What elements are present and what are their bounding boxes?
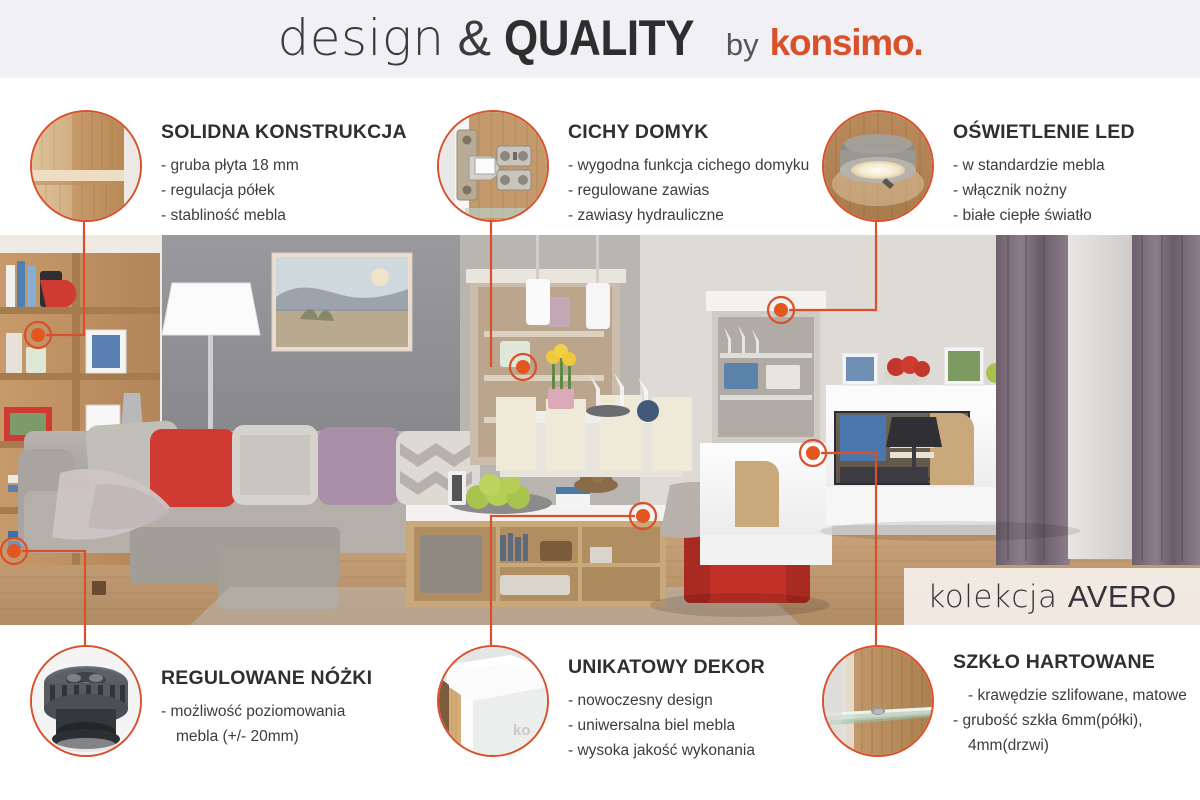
header-word-design: design (277, 13, 444, 63)
feature-title: REGULOWANE NÓŻKI (161, 667, 372, 690)
header-word-quality: QUALITY (504, 13, 694, 63)
collection-badge-label: kolekcja AVERO (927, 579, 1176, 615)
feature-text-block: UNIKATOWY DEKOR - nowoczesny design - un… (568, 645, 765, 763)
brand-logo-konsimo: konsimo. (770, 24, 923, 61)
feature-text-block: SZKŁO HARTOWANE - krawędzie szlifowane, … (953, 645, 1187, 758)
interior-photo-illustration (0, 235, 1200, 625)
header-bar: design & QUALITY by konsimo. (0, 0, 1200, 78)
feature-text-block: REGULOWANE NÓŻKI - możliwość poziomowani… (161, 645, 372, 749)
white-panel-edge-photo-icon: ko (437, 645, 549, 757)
header-word-by: by (726, 29, 759, 60)
feature-title: SZKŁO HARTOWANE (953, 651, 1187, 674)
feature-bullet: - regulacja półek (161, 178, 407, 203)
led-lamp-photo-icon (822, 110, 934, 222)
feature-oswietlenie-led: OŚWIETLENIE LED - w standardzie mebla - … (822, 110, 1135, 228)
feature-bullet: - grubość szkła 6mm(półki), (953, 708, 1187, 733)
feature-bullet: - w standardzie mebla (953, 153, 1135, 178)
feature-szklo-hartowane: SZKŁO HARTOWANE - krawędzie szlifowane, … (822, 645, 1187, 758)
feature-title: SOLIDNA KONSTRUKCJA (161, 121, 407, 144)
feature-bullet: - regulowane zawias (568, 178, 809, 203)
feature-regulowane-nozki: REGULOWANE NÓŻKI - możliwość poziomowani… (30, 645, 372, 757)
feature-bullet: - krawędzie szlifowane, matowe (953, 683, 1187, 708)
feature-title: CICHY DOMYK (568, 121, 809, 144)
display-cabinet (700, 291, 832, 565)
feature-bullet: mebla (+/- 20mm) (161, 724, 372, 749)
interior-photo (0, 235, 1200, 625)
feature-bullet: - włącznik nożny (953, 178, 1135, 203)
curtains (996, 235, 1200, 565)
header-logo-lockup: design & QUALITY by konsimo. (277, 13, 922, 63)
adjustable-foot-photo-icon (30, 645, 142, 757)
cabinet-hinge-photo-icon (437, 110, 549, 222)
feature-bullet: - wysoka jakość wykonania (568, 738, 765, 763)
feature-unikatowy-dekor: ko UNIKATOWY DEKOR - nowoczesny design -… (437, 645, 765, 763)
feature-solidna-konstrukcja: SOLIDNA KONSTRUKCJA - gruba płyta 18 mm … (30, 110, 407, 228)
feature-title: OŚWIETLENIE LED (953, 121, 1135, 144)
feature-text-block: OŚWIETLENIE LED - w standardzie mebla - … (953, 110, 1135, 228)
wood-shelf-photo-icon (30, 110, 142, 222)
feature-bullet: - wygodna funkcja cichego domyku (568, 153, 809, 178)
feature-text-block: CICHY DOMYK - wygodna funkcja cichego do… (568, 110, 809, 228)
header-ampersand: & (458, 13, 491, 63)
feature-bullet: 4mm(drzwi) (953, 733, 1187, 758)
wall-artwork (272, 253, 412, 351)
feature-bullet: - stabliność mebla (161, 203, 407, 228)
feature-bullet: - możliwość poziomowania (161, 699, 372, 724)
feature-bullet: - gruba płyta 18 mm (161, 153, 407, 178)
feature-text-block: SOLIDNA KONSTRUKCJA - gruba płyta 18 mm … (161, 110, 407, 228)
feature-title: UNIKATOWY DEKOR (568, 656, 765, 679)
feature-bullet: - uniwersalna biel mebla (568, 713, 765, 738)
feature-bullet: - białe ciepłe światło (953, 203, 1135, 228)
infographic-page: design & QUALITY by konsimo. (0, 0, 1200, 800)
svg-text:ko: ko (513, 722, 531, 739)
feature-bullet: - nowoczesny design (568, 688, 765, 713)
feature-cichy-domyk: CICHY DOMYK - wygodna funkcja cichego do… (437, 110, 809, 228)
feature-bullet: - zawiasy hydrauliczne (568, 203, 809, 228)
collection-badge: kolekcja AVERO (904, 568, 1200, 625)
tempered-glass-shelf-photo-icon (822, 645, 934, 757)
